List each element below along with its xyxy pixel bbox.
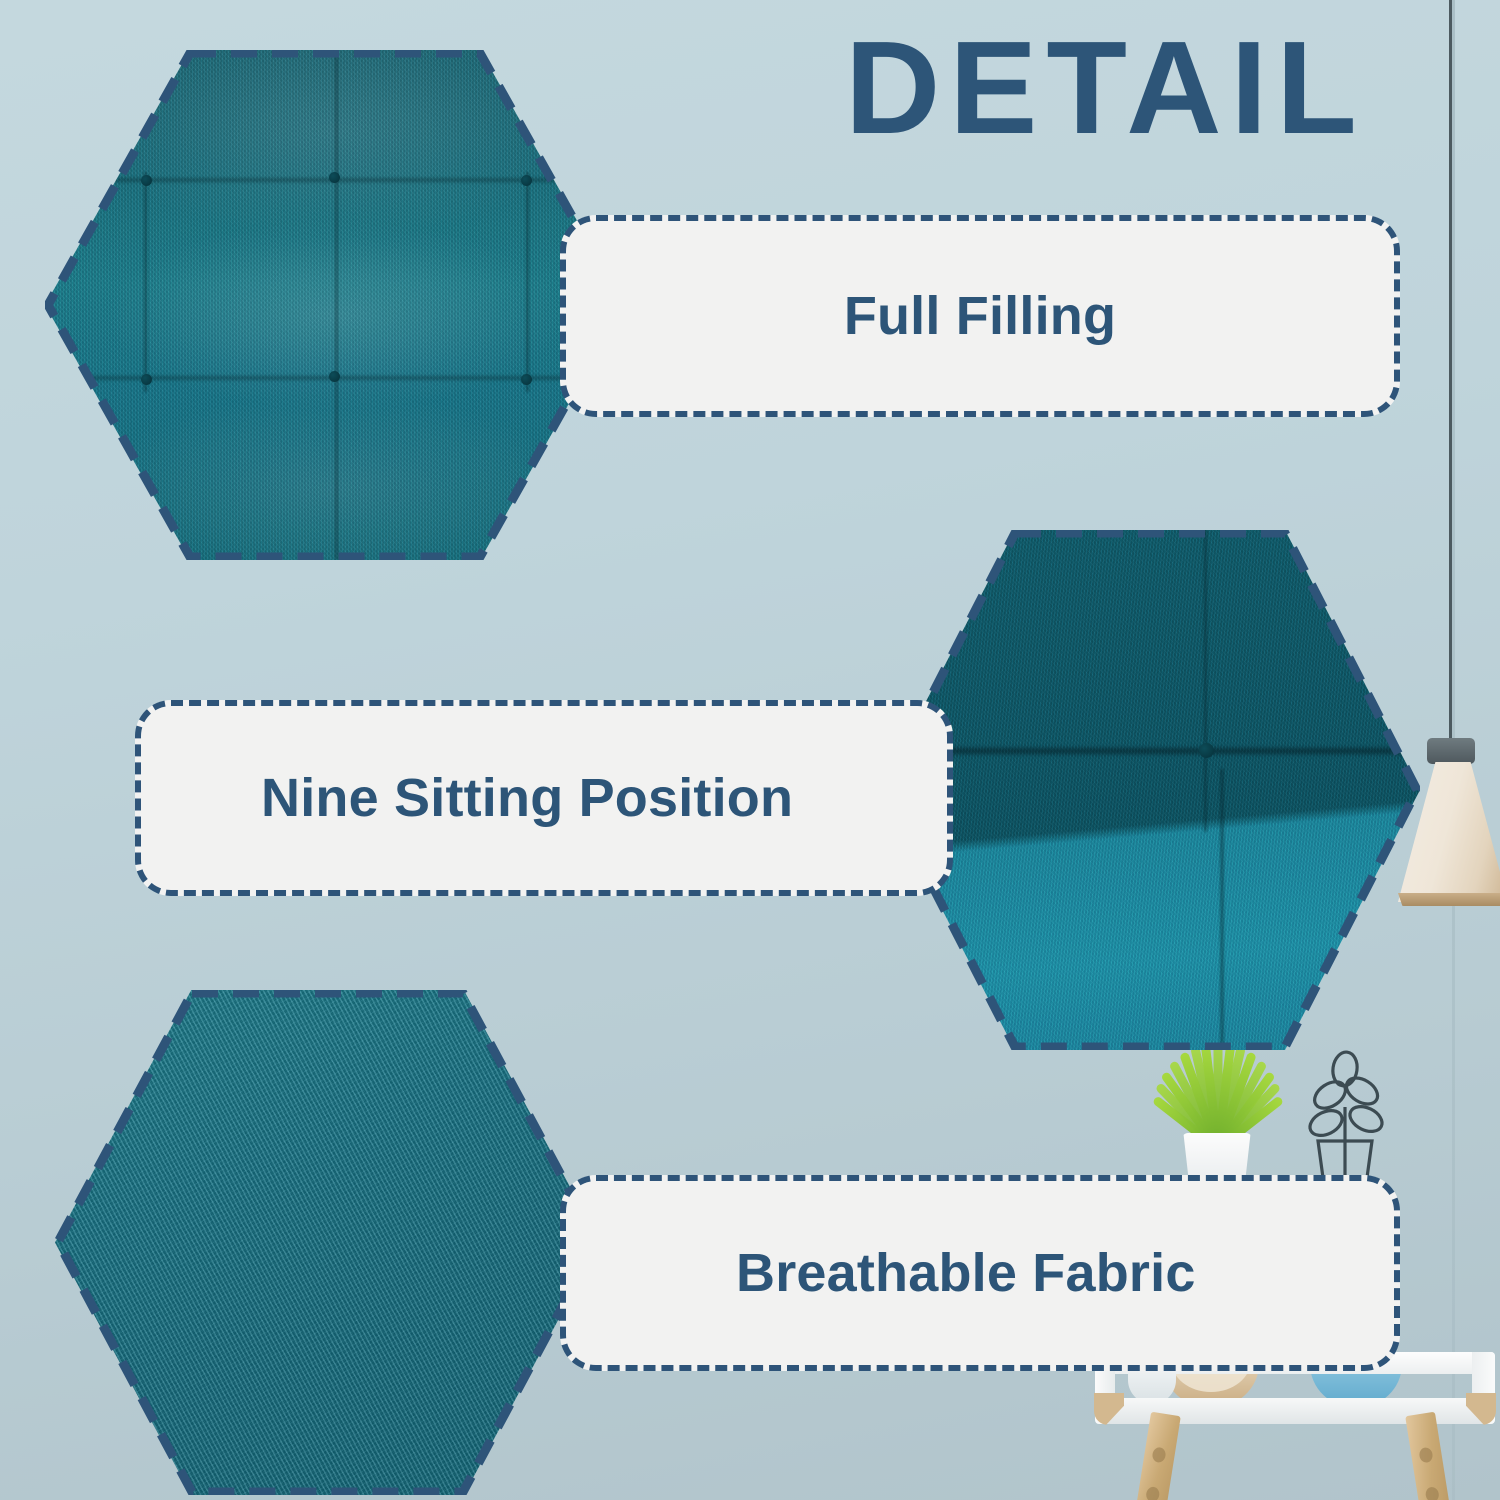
pendant-lamp-cord: [1449, 0, 1452, 752]
feature-label-text: Breathable Fabric: [736, 1242, 1196, 1304]
side-table-leg-right: [1405, 1412, 1452, 1500]
product-detail-infographic: DETAIL Full Filling: [0, 0, 1500, 1500]
hexagon-photo-woven-fabric: [55, 990, 600, 1495]
hexagon-image-breathable-fabric: [55, 990, 600, 1495]
side-table-leg-left: [1134, 1412, 1181, 1500]
hexagon-image-nine-sitting-position: [880, 530, 1420, 1050]
hexagon-photo-tufted-cushion: [45, 50, 625, 560]
feature-label-nine-sitting-position[interactable]: Nine Sitting Position: [135, 700, 953, 896]
wire-plant-sculpture: [1290, 1045, 1400, 1195]
potted-plant-foliage: [1150, 1038, 1286, 1148]
pendant-lamp-cap: [1427, 738, 1475, 764]
feature-label-text: Full Filling: [844, 285, 1116, 347]
feature-label-breathable-fabric[interactable]: Breathable Fabric: [560, 1175, 1400, 1371]
hexagon-photo-folded-cushion: [880, 530, 1420, 1050]
side-table-shelf: [1105, 1398, 1487, 1424]
side-table-corner-right: [1466, 1393, 1496, 1425]
feature-label-full-filling[interactable]: Full Filling: [560, 215, 1400, 417]
wall-seam: [1452, 0, 1455, 1500]
page-title: DETAIL: [845, 22, 1366, 154]
side-table-corner-left: [1094, 1393, 1124, 1425]
side-table-right-panel: [1472, 1352, 1495, 1424]
hexagon-image-full-filling: [45, 50, 625, 560]
feature-label-text: Nine Sitting Position: [261, 767, 793, 829]
